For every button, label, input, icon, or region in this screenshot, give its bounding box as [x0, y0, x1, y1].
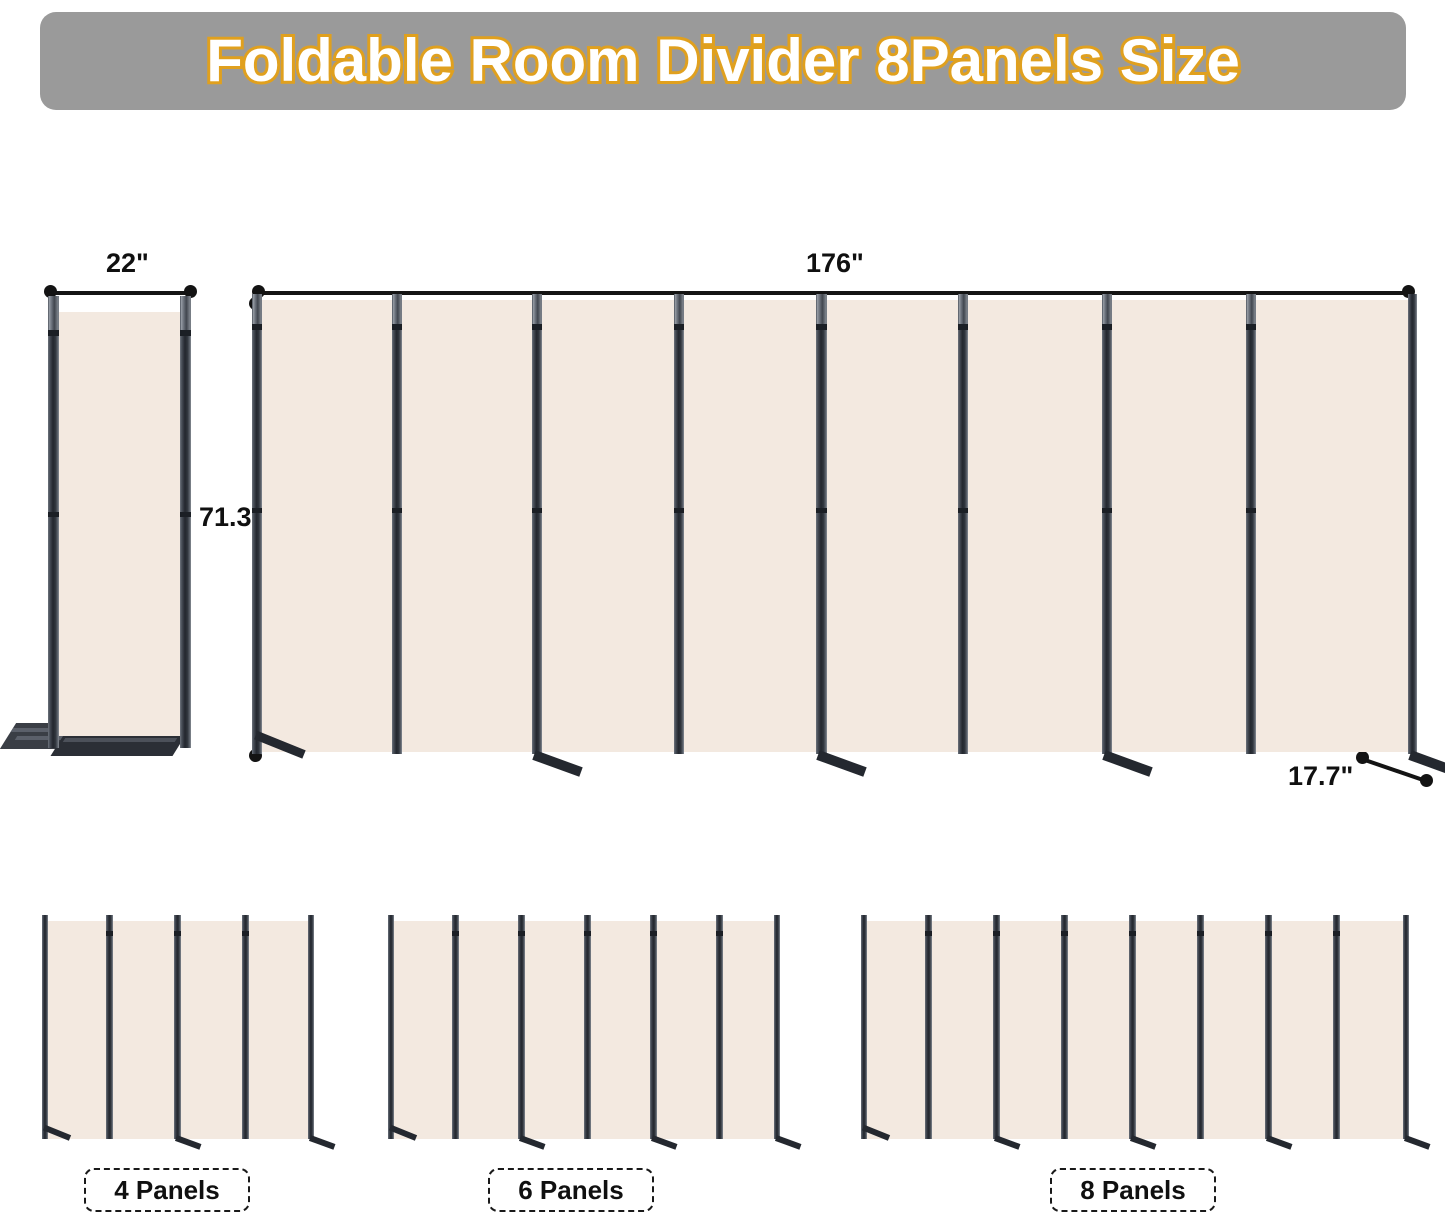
- pole-clamp: [1333, 931, 1340, 936]
- pole-right: [180, 296, 191, 748]
- pole-clamp: [1129, 931, 1136, 936]
- fabric-panel: [248, 921, 310, 1139]
- pole: [1129, 915, 1136, 1139]
- pole-cap: [533, 294, 541, 324]
- pole-clamp: [452, 931, 459, 936]
- pole-cap: [1247, 294, 1255, 324]
- fabric-panel: [392, 921, 452, 1139]
- pole-clamp: [532, 508, 542, 513]
- fabric-panel: [1108, 300, 1246, 752]
- fabric-panel: [1339, 921, 1405, 1139]
- fabric-panel: [865, 921, 925, 1139]
- pole: [816, 294, 827, 754]
- fabric-panel: [538, 300, 674, 752]
- pole: [958, 294, 968, 754]
- pole: [1333, 915, 1340, 1139]
- pole-clamp: [1246, 508, 1256, 513]
- pole-clamp: [1197, 931, 1204, 936]
- variant-8-panels: [855, 905, 1411, 1155]
- pole: [1265, 915, 1272, 1139]
- variant-6-panels: [382, 905, 782, 1155]
- pole: [584, 915, 591, 1139]
- caption-4-panels: 4 Panels: [84, 1168, 250, 1212]
- pole-clamp: [1061, 931, 1068, 936]
- pole: [1403, 915, 1409, 1139]
- pole-left: [48, 296, 59, 748]
- title-banner: Foldable Room Divider 8Panels Size: [40, 12, 1406, 110]
- fabric-panel: [112, 921, 174, 1139]
- pole-left-clamp-mid: [48, 512, 59, 517]
- pole-clamp: [242, 931, 249, 936]
- pole-cap: [959, 294, 967, 324]
- pole-clamp: [174, 931, 181, 936]
- pole-clamp: [958, 324, 968, 330]
- fabric-panel: [398, 300, 532, 752]
- foot: [775, 1135, 801, 1150]
- dimension-label-depth: 22": [106, 250, 149, 277]
- side-view-panel: [0, 280, 230, 780]
- pole: [392, 294, 402, 754]
- pole: [252, 294, 262, 754]
- pole-clamp: [816, 508, 827, 513]
- pole-right-clamp-mid: [180, 512, 191, 517]
- pole-right-clamp-top: [180, 330, 191, 336]
- pole: [242, 915, 249, 1139]
- pole: [774, 915, 780, 1139]
- foot: [816, 750, 866, 776]
- infographic-canvas: Foldable Room Divider 8Panels Size 22" 1…: [0, 0, 1445, 1220]
- fabric-panel: [1252, 300, 1410, 752]
- pole: [174, 915, 181, 1139]
- pole: [532, 294, 542, 754]
- foot: [309, 1135, 335, 1150]
- fabric-panel: [1203, 921, 1265, 1139]
- pole-clamp: [816, 324, 827, 330]
- pole-cap: [393, 294, 401, 324]
- pole: [1246, 294, 1256, 754]
- fabric-panel: [180, 921, 242, 1139]
- pole: [1061, 915, 1068, 1139]
- pole: [452, 915, 459, 1139]
- pole: [925, 915, 932, 1139]
- pole: [861, 915, 867, 1139]
- fabric-panel: [822, 300, 958, 752]
- fabric-panel: [1271, 921, 1333, 1139]
- fabric-panel: [258, 300, 392, 752]
- fabric-panel: [590, 921, 650, 1139]
- pole-cap: [253, 294, 261, 324]
- pole-right-cap: [181, 296, 190, 330]
- fabric-panel: [931, 921, 993, 1139]
- pole: [106, 915, 113, 1139]
- pole-clamp: [1102, 324, 1112, 330]
- pole-clamp: [650, 931, 657, 936]
- fabric-panel: [46, 921, 106, 1139]
- pole: [1197, 915, 1204, 1139]
- pole: [518, 915, 525, 1139]
- pole: [42, 915, 48, 1139]
- foot: [1102, 750, 1152, 776]
- caption-8-panels: 8 Panels: [1050, 1168, 1216, 1212]
- caption-6-panels: 6 Panels: [488, 1168, 654, 1212]
- pole-clamp: [716, 931, 723, 936]
- fabric-panel: [524, 921, 584, 1139]
- eight-panel-divider: [246, 288, 1426, 788]
- pole-cap: [675, 294, 683, 324]
- fabric-panel: [58, 312, 184, 736]
- pole-clamp: [518, 931, 525, 936]
- fabric-panel: [680, 300, 816, 752]
- pole-clamp: [1265, 931, 1272, 936]
- pole-cap: [1103, 294, 1111, 324]
- pole: [1102, 294, 1112, 754]
- pole: [1408, 294, 1417, 754]
- page-title: Foldable Room Divider 8Panels Size: [206, 31, 1240, 91]
- pole-clamp: [993, 931, 1000, 936]
- pole-cap: [817, 294, 826, 324]
- pole: [388, 915, 394, 1139]
- fabric-panel: [458, 921, 518, 1139]
- pole-clamp: [106, 931, 113, 936]
- pole-clamp: [674, 508, 684, 513]
- pole-clamp: [252, 324, 262, 330]
- fabric-panel: [722, 921, 778, 1139]
- variant-4-panels: [36, 905, 336, 1155]
- fabric-panel: [1135, 921, 1197, 1139]
- foot: [1404, 1135, 1430, 1150]
- pole-clamp: [392, 508, 402, 513]
- base-plate-rib-3: [63, 738, 177, 742]
- foot: [532, 750, 582, 776]
- pole-clamp: [674, 324, 684, 330]
- pole-clamp: [252, 508, 262, 513]
- pole: [993, 915, 1000, 1139]
- pole-left-clamp-top: [48, 330, 59, 336]
- pole-clamp: [392, 324, 402, 330]
- pole-clamp: [925, 931, 932, 936]
- fabric-panel: [999, 921, 1061, 1139]
- fabric-panel: [964, 300, 1102, 752]
- fabric-panel: [1067, 921, 1129, 1139]
- pole-clamp: [1246, 324, 1256, 330]
- pole: [650, 915, 657, 1139]
- dimension-label-width: 176": [806, 250, 864, 277]
- pole: [674, 294, 684, 754]
- pole-left-cap: [49, 296, 58, 330]
- pole: [308, 915, 314, 1139]
- pole-clamp: [1102, 508, 1112, 513]
- pole: [716, 915, 723, 1139]
- fabric-panel: [656, 921, 716, 1139]
- pole-clamp: [532, 324, 542, 330]
- pole-clamp: [958, 508, 968, 513]
- pole-clamp: [584, 931, 591, 936]
